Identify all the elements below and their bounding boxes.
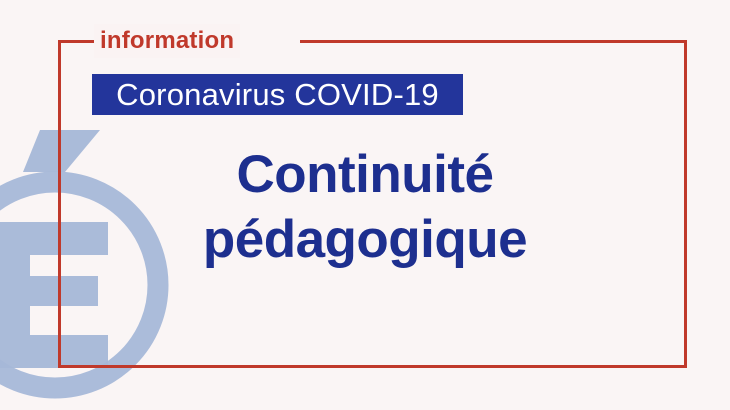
headline-line-2: pédagogique (0, 207, 730, 272)
headline-line-1: Continuité (0, 142, 730, 207)
frame-top-edge-right (300, 40, 687, 43)
poster-canvas: information Coronavirus COVID-19 Continu… (0, 0, 730, 410)
headline-block: Continuité pédagogique (0, 142, 730, 272)
coronavirus-covid-banner: Coronavirus COVID-19 (92, 74, 463, 115)
frame-top-edge-left (58, 40, 94, 43)
information-kicker-label: information (94, 24, 240, 58)
frame-bottom-edge (58, 365, 687, 368)
